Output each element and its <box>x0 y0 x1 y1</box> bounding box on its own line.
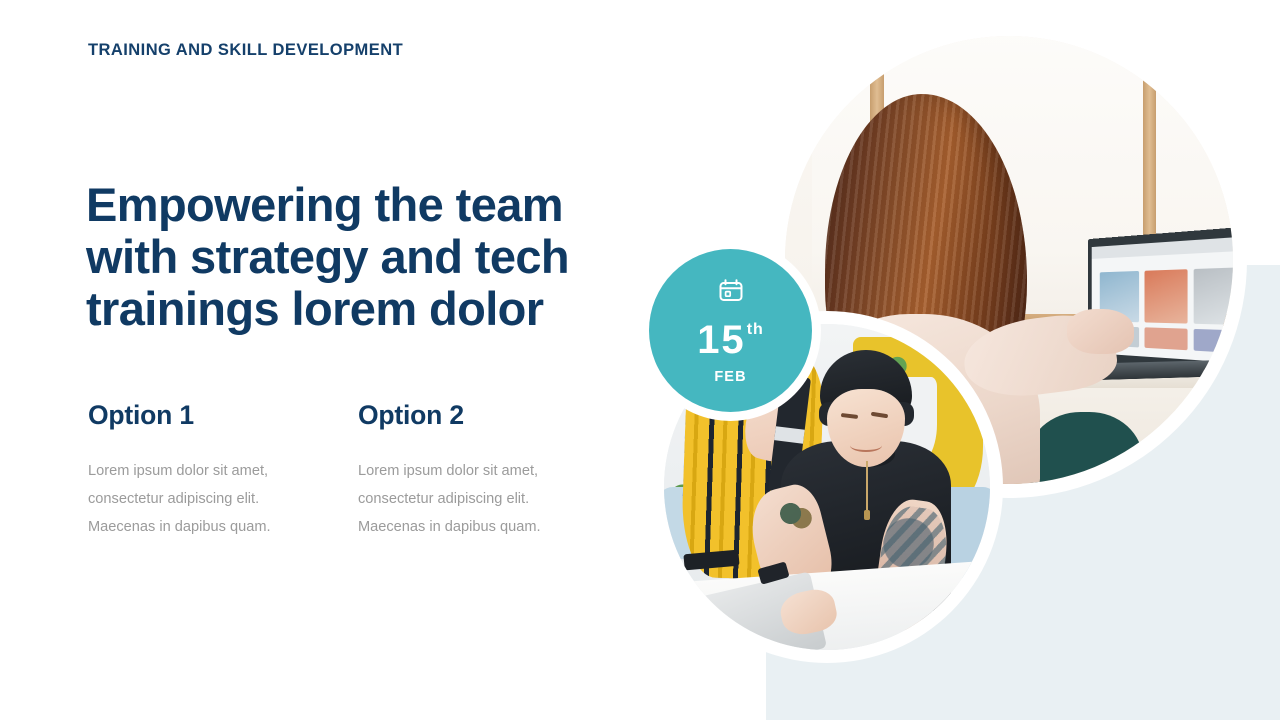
calendar-icon <box>716 276 746 311</box>
photo-small-tattoo-left <box>775 494 814 533</box>
headline-line-2: with strategy and tech <box>86 231 626 283</box>
option-1-body-line-1: Lorem ipsum dolor sit amet, <box>88 457 313 485</box>
date-badge-day-suffix: th <box>747 322 764 338</box>
option-1-body-line-3: Maecenas in dapibus quam. <box>88 513 313 541</box>
date-badge-day-group: 15 th <box>697 320 764 360</box>
photo-small-person-necklace <box>866 461 868 516</box>
photo-large-person-hand <box>1067 309 1134 354</box>
headline-line-1: Empowering the team <box>86 179 626 231</box>
slide-eyebrow: TRAINING AND SKILL DEVELOPMENT <box>88 41 403 60</box>
option-2-body-line-3: Maecenas in dapibus quam. <box>358 513 583 541</box>
headline-line-3: trainings lorem dolor <box>86 283 626 335</box>
slide: TRAINING AND SKILL DEVELOPMENT Empowerin… <box>0 0 1280 720</box>
option-2-body: Lorem ipsum dolor sit amet, consectetur … <box>358 457 583 541</box>
mouth-smile <box>850 439 881 452</box>
option-block-1: Option 1 Lorem ipsum dolor sit amet, con… <box>88 400 358 541</box>
option-2-body-line-2: consectetur adipiscing elit. <box>358 485 583 513</box>
option-2-body-line-1: Lorem ipsum dolor sit amet, <box>358 457 583 485</box>
date-badge-day: 15 <box>697 320 746 360</box>
option-1-body-line-2: consectetur adipiscing elit. <box>88 485 313 513</box>
option-2-title: Option 2 <box>358 400 628 431</box>
options-group: Option 1 Lorem ipsum dolor sit amet, con… <box>88 400 628 541</box>
eyebrow-right <box>871 411 889 418</box>
option-1-title: Option 1 <box>88 400 358 431</box>
date-badge-inner: 15 th FEB <box>649 249 812 412</box>
option-1-body: Lorem ipsum dolor sit amet, consectetur … <box>88 457 313 541</box>
laptop-browser-bar <box>1092 236 1233 259</box>
date-badge[interactable]: 15 th FEB <box>640 240 821 421</box>
date-badge-month: FEB <box>714 369 746 385</box>
page-title: Empowering the team with strategy and te… <box>86 179 626 335</box>
eyebrow-left <box>841 413 859 419</box>
option-block-2: Option 2 Lorem ipsum dolor sit amet, con… <box>358 400 628 541</box>
